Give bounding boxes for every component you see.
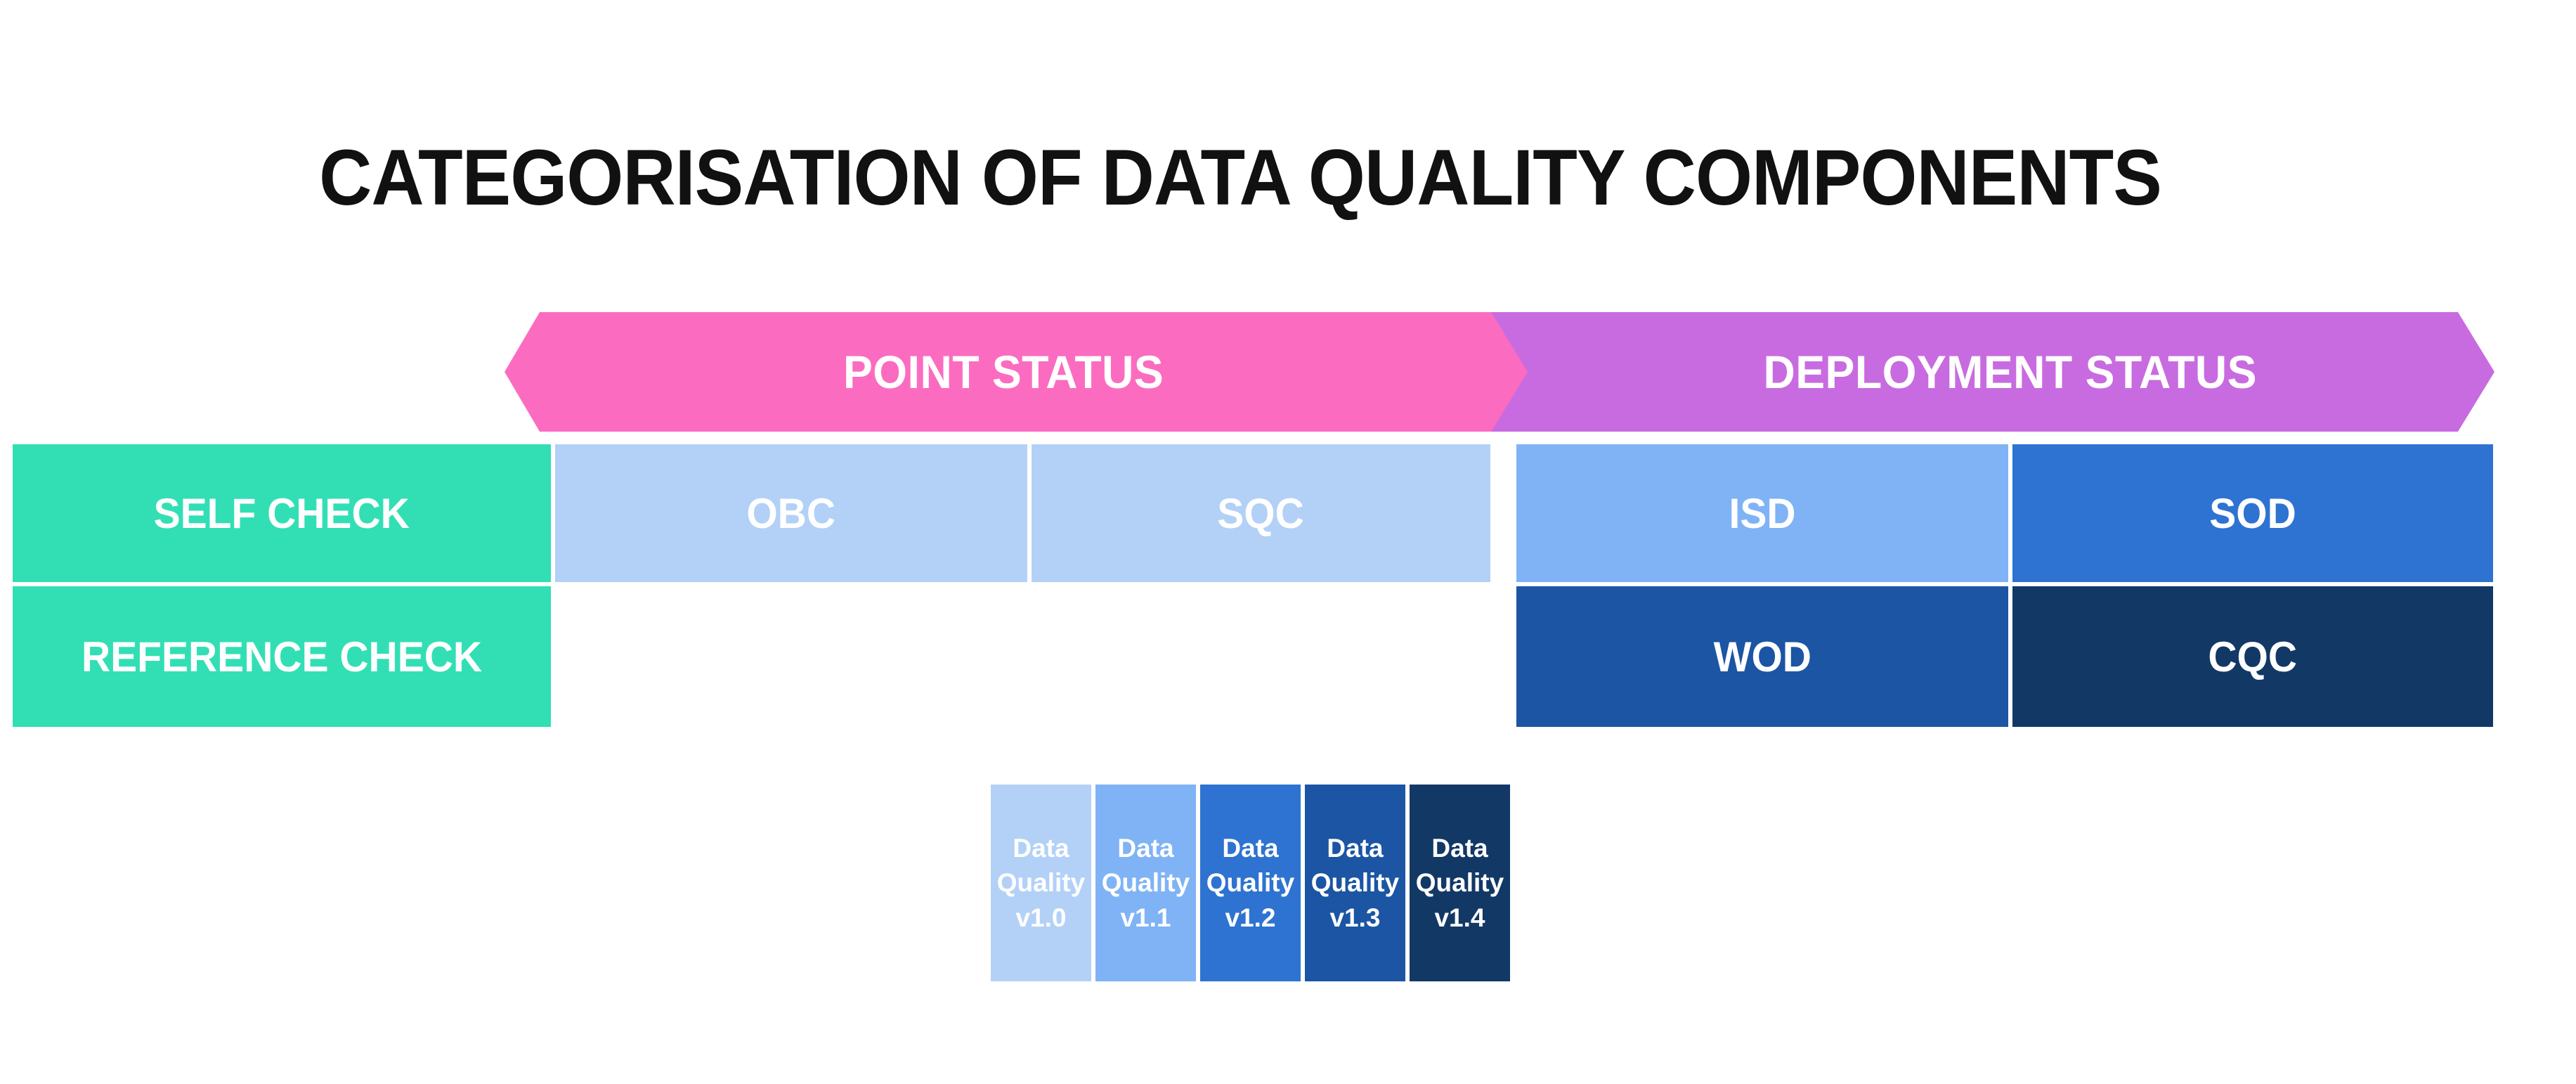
legend-item-v1-2-line2: Quality xyxy=(1206,865,1294,901)
legend-item-v1-0-line1: Data xyxy=(1013,831,1069,866)
legend-item-v1-0[interactable]: Data Quality v1.0 xyxy=(991,785,1091,981)
legend-item-v1-4-line2: Quality xyxy=(1416,865,1504,901)
legend-item-v1-3-line2: Quality xyxy=(1311,865,1399,901)
legend-item-v1-4-version: v1.4 xyxy=(1434,901,1485,936)
row-header-reference-check-label: REFERENCE CHECK xyxy=(82,633,482,681)
cell-isd[interactable]: ISD xyxy=(1516,444,2008,582)
legend-item-v1-3[interactable]: Data Quality v1.3 xyxy=(1305,785,1405,981)
legend-item-v1-4[interactable]: Data Quality v1.4 xyxy=(1410,785,1510,981)
row-header-reference-check[interactable]: REFERENCE CHECK xyxy=(13,586,551,727)
row-header-self-check[interactable]: SELF CHECK xyxy=(13,444,551,582)
legend-item-v1-3-version: v1.3 xyxy=(1329,901,1380,936)
cell-wod[interactable]: WOD xyxy=(1516,586,2008,727)
legend-item-v1-1-version: v1.1 xyxy=(1120,901,1171,936)
legend-item-v1-0-version: v1.0 xyxy=(1015,901,1066,936)
legend-item-v1-1-line2: Quality xyxy=(1102,865,1190,901)
legend-item-v1-4-line1: Data xyxy=(1431,831,1488,866)
cell-cqc-label: CQC xyxy=(2209,633,2298,681)
banner-point-status-label: POINT STATUS xyxy=(843,345,1164,399)
legend-item-v1-3-line1: Data xyxy=(1327,831,1383,866)
cell-obc-label: OBC xyxy=(747,489,836,538)
legend-item-v1-2-line1: Data xyxy=(1222,831,1278,866)
legend-item-v1-2-version: v1.2 xyxy=(1225,901,1275,936)
cell-sqc-label: SQC xyxy=(1218,489,1305,538)
cell-cqc[interactable]: CQC xyxy=(2012,586,2493,727)
page-title: CATEGORISATION OF DATA QUALITY COMPONENT… xyxy=(87,132,2394,223)
banner-deployment-status-label: DEPLOYMENT STATUS xyxy=(1764,345,2257,399)
legend-item-v1-1-line1: Data xyxy=(1117,831,1173,866)
cell-wod-label: WOD xyxy=(1713,633,1811,681)
cell-obc[interactable]: OBC xyxy=(555,444,1027,582)
banner-deployment-status[interactable]: DEPLOYMENT STATUS xyxy=(1491,312,2494,432)
row-header-self-check-label: SELF CHECK xyxy=(154,489,410,538)
cell-isd-label: ISD xyxy=(1729,489,1795,538)
legend-item-v1-2[interactable]: Data Quality v1.2 xyxy=(1200,785,1301,981)
legend-data-quality-versions: Data Quality v1.0 Data Quality v1.1 Data… xyxy=(991,785,1510,981)
cell-sod[interactable]: SOD xyxy=(2012,444,2493,582)
status-banner-row: POINT STATUS DEPLOYMENT STATUS xyxy=(0,312,2576,432)
legend-item-v1-1[interactable]: Data Quality v1.1 xyxy=(1095,785,1196,981)
banner-point-status[interactable]: POINT STATUS xyxy=(505,312,1530,432)
legend-item-v1-0-line2: Quality xyxy=(997,865,1085,901)
diagram-canvas: CATEGORISATION OF DATA QUALITY COMPONENT… xyxy=(0,0,2576,1084)
cell-sqc[interactable]: SQC xyxy=(1032,444,1490,582)
cell-sod-label: SOD xyxy=(2209,489,2296,538)
